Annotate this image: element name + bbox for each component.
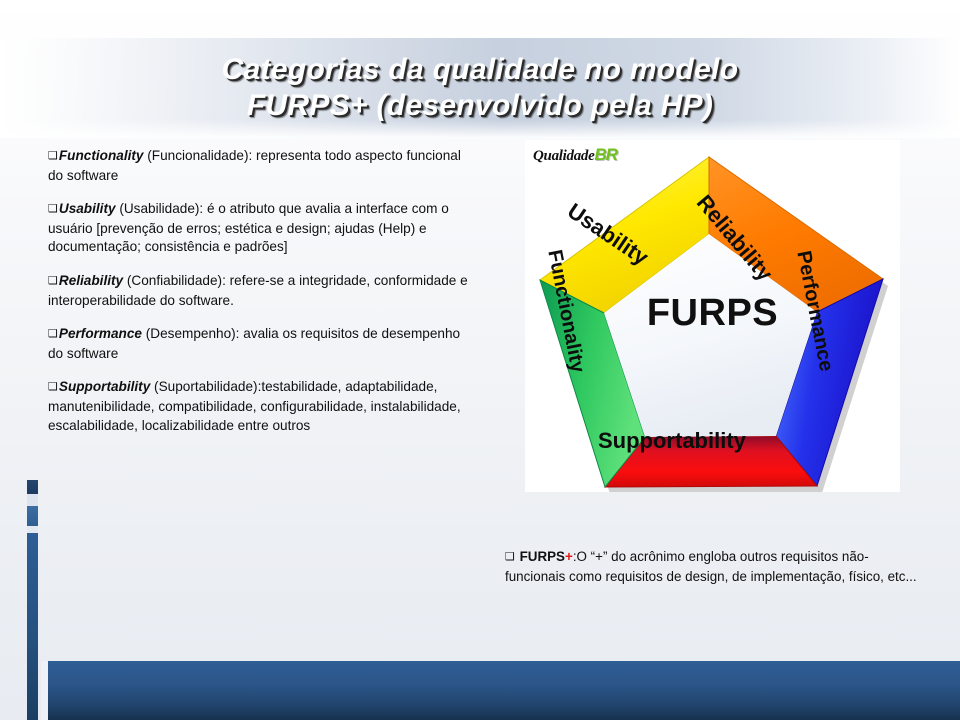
list-item: ❑Reliability (Confiabilidade): refere-se… [48,272,478,310]
pentagon-graphic: FURPS Usability Reliability Performance … [525,146,900,492]
bullet-term: Reliability [59,273,123,288]
accent-segment-3 [27,533,38,720]
accent-gap-2 [27,526,38,533]
bullet-term: Performance [59,326,142,341]
bullet-term: Usability [59,201,116,216]
footer-bar [48,661,960,720]
bullet-glyph-icon: ❑ [48,149,58,162]
caption-lead: FURPS [520,549,565,564]
list-item: ❑Supportability (Suportabilidade):testab… [48,378,478,435]
bullet-term: Supportability [59,379,150,394]
list-item: ❑Usability (Usabilidade): é o atributo q… [48,200,478,257]
bullet-glyph-icon: ❑ [48,274,58,287]
caption-bullet-glyph-icon: ❑ [505,550,515,563]
pentagon-svg [525,146,900,492]
bullet-glyph-icon: ❑ [48,380,58,393]
accent-segment-2 [27,506,38,526]
accent-gap-1 [27,494,38,506]
bullet-term: Functionality [59,148,144,163]
page-title: Categorias da qualidade no modelo FURPS+… [0,52,960,124]
left-accent-bar [27,480,38,720]
bullet-glyph-icon: ❑ [48,202,58,215]
furps-plus-caption: ❑ FURPS+:O “+” do acrônimo engloba outro… [505,548,925,586]
slide-canvas: Categorias da qualidade no modelo FURPS+… [0,0,960,720]
caption-plus-symbol: + [565,549,573,564]
bullet-list: ❑Functionality (Funcionalidade): represe… [48,147,478,435]
footer-left-edge [41,661,48,720]
furps-pentagon-image: QualidadeBR [525,140,900,492]
bullet-glyph-icon: ❑ [48,327,58,340]
list-item: ❑Performance (Desempenho): avalia os req… [48,325,478,363]
list-item: ❑Functionality (Funcionalidade): represe… [48,147,478,185]
accent-segment-1 [27,480,38,494]
